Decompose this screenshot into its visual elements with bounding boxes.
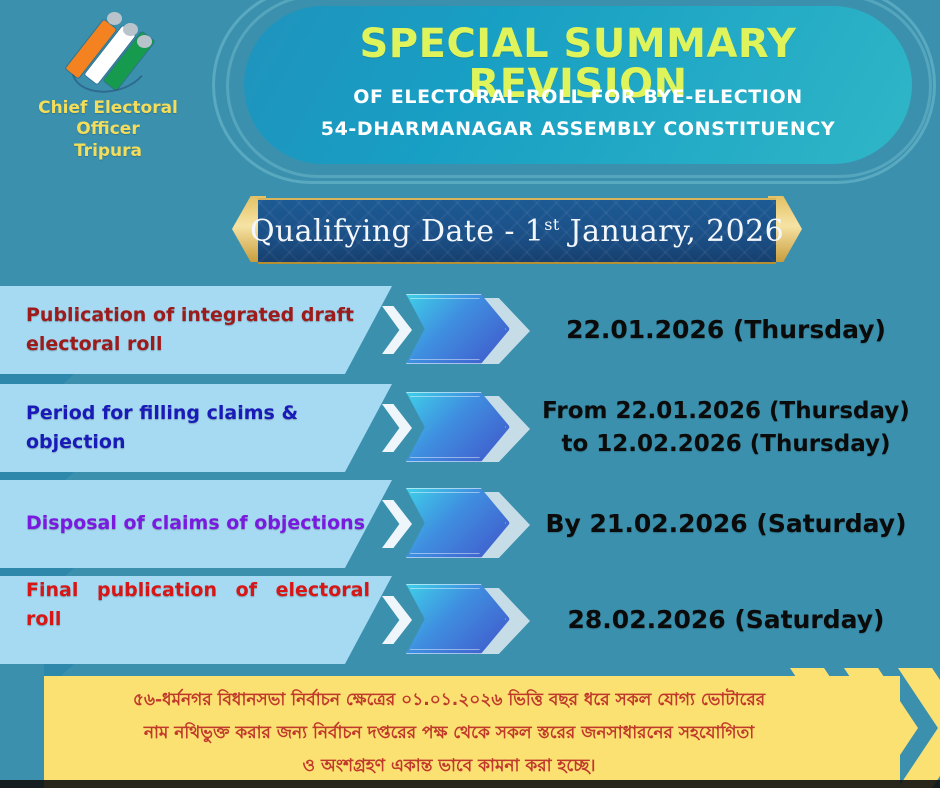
activity-panel: Publication of integrated draft electora… xyxy=(0,286,392,374)
mini-chevron-icon xyxy=(382,596,412,644)
date-value: From 22.01.2026 (Thursday) to 12.02.2026… xyxy=(520,384,932,472)
activity-label: Period for filling claims & objection xyxy=(0,399,392,458)
date-value: 22.01.2026 (Thursday) xyxy=(520,286,932,374)
footer-banner: ৫৬-ধর্মনগর বিধানসভা নির্বাচন ক্ষেত্রের ০… xyxy=(44,676,900,788)
logo-caption-line-1: Chief Electoral Officer xyxy=(8,98,208,141)
activity-panel: Period for filling claims & objection xyxy=(0,384,392,472)
schedule-row: Disposal of claims of objections By 21.0… xyxy=(0,480,940,576)
page-subtitle-2: 54-DHARMANAGAR ASSEMBLY CONSTITUENCY xyxy=(244,120,912,139)
eci-tricolor-logo-icon xyxy=(63,10,153,92)
activity-label: Final publication of electoral roll xyxy=(0,576,392,664)
mini-chevron-icon xyxy=(382,500,412,548)
logo-dot-1 xyxy=(107,12,122,25)
schedule-row: Period for filling claims & objection Fr… xyxy=(0,384,940,480)
mini-chevron-icon xyxy=(382,404,412,452)
logo-dot-3 xyxy=(137,35,152,48)
qualifying-date-text: Qualifying Date - 1st January, 2026 xyxy=(250,214,784,249)
mini-chevron-icon xyxy=(382,306,412,354)
row-arrow xyxy=(382,488,522,560)
qualifying-date-ordinal: st xyxy=(544,215,559,234)
row-arrow xyxy=(382,392,522,464)
schedule-row: Publication of integrated draft electora… xyxy=(0,286,940,382)
poster-root: SPECIAL SUMMARY REVISION OF ELECTORAL RO… xyxy=(0,0,940,788)
footer-line-1: ৫৬-ধর্মনগর বিধানসভা নির্বাচন ক্ষেত্রের ০… xyxy=(64,684,834,717)
date-value: 28.02.2026 (Saturday) xyxy=(520,576,932,664)
header-banner: SPECIAL SUMMARY REVISION OF ELECTORAL RO… xyxy=(0,0,940,178)
schedule-row: Final publication of electoral roll 28.0… xyxy=(0,576,940,672)
qualifying-date-value: January, 2026 xyxy=(560,214,784,249)
logo-block: Chief Electoral Officer Tripura xyxy=(8,10,208,162)
qualifying-date-banner: Qualifying Date - 1st January, 2026 xyxy=(232,196,802,262)
activity-label: Publication of integrated draft electora… xyxy=(0,301,392,360)
activity-panel: Disposal of claims of objections xyxy=(0,480,392,568)
footer-line-2: নাম নথিভুক্ত করার জন্য নির্বাচন দপ্তরের … xyxy=(64,717,834,750)
date-value: By 21.02.2026 (Saturday) xyxy=(520,480,932,568)
footer-left-spacer xyxy=(0,664,44,788)
logo-dot-2 xyxy=(123,23,138,36)
row-arrow xyxy=(382,294,522,366)
logo-caption: Chief Electoral Officer Tripura xyxy=(8,98,208,162)
activity-label: Disposal of claims of objections xyxy=(0,509,392,538)
footer-message: ৫৬-ধর্মনগর বিধানসভা নির্বাচন ক্ষেত্রের ০… xyxy=(64,684,834,783)
page-subtitle-1: OF ELECTORAL ROLL FOR BYE-ELECTION xyxy=(244,88,912,107)
logo-caption-line-2: Tripura xyxy=(8,141,208,162)
bottom-strip xyxy=(0,780,940,788)
activity-panel: Final publication of electoral roll xyxy=(0,576,392,664)
qualifying-date-body: Qualifying Date - 1st January, 2026 xyxy=(258,198,776,264)
row-arrow xyxy=(382,584,522,656)
footer-line-3: ও অংশগ্রহণ একান্ত ভাবে কামনা করা হচ্ছে। xyxy=(64,750,834,783)
qualifying-date-label: Qualifying Date - 1 xyxy=(250,214,544,249)
